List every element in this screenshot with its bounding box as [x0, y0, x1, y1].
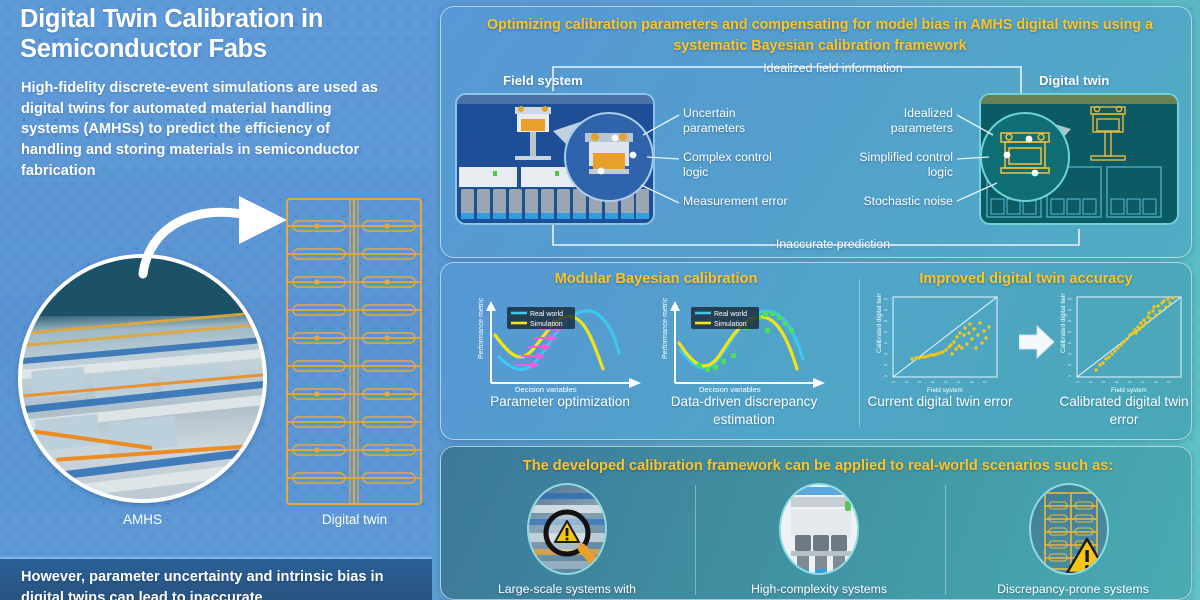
svg-text:.50: .50 [982, 380, 987, 384]
svg-text:Calibrated digital twin: Calibrated digital twin [1060, 293, 1067, 353]
svg-text:.25: .25 [1067, 374, 1072, 378]
panel-divider [945, 485, 946, 595]
chart-calibrated-twin-error: Calibrated digital twin [1055, 293, 1195, 395]
svg-text:.25: .25 [1101, 380, 1106, 384]
svg-text:.30: .30 [1114, 380, 1119, 384]
svg-text:.30: .30 [1067, 363, 1072, 367]
svg-text:.40: .40 [1067, 341, 1072, 345]
svg-text:.40: .40 [1140, 380, 1145, 384]
page-subtitle: High-fidelity discrete-event simulations… [21, 78, 393, 182]
magnifier-warning-icon [527, 483, 607, 575]
svg-text:.35: .35 [1067, 352, 1072, 356]
svg-text:.35: .35 [943, 380, 948, 384]
svg-text:Performance metric: Performance metric [478, 297, 485, 359]
svg-text:.45: .45 [969, 380, 974, 384]
svg-text:.25: .25 [917, 380, 922, 384]
svg-text:.30: .30 [883, 363, 888, 367]
fab-equipment-icon [779, 483, 859, 575]
right-column: Optimizing calibration parameters and co… [432, 0, 1200, 600]
svg-text:Simulation: Simulation [530, 321, 563, 328]
infographic-canvas: Digital Twin Calibration in Semiconducto… [0, 0, 1200, 600]
methods-results-panel: Modular Bayesian calibration Improved di… [440, 262, 1192, 440]
callout-measurement-error: Measurement error [683, 194, 793, 209]
svg-text:Performance metric: Performance metric [662, 297, 669, 359]
svg-text:.35: .35 [883, 352, 888, 356]
caption-discrepancy-estimation: Data-driven discrepancy estimation [639, 393, 849, 428]
panel-divider [695, 485, 696, 595]
application-label-1: Large-scale systems with few field obser… [471, 581, 663, 600]
flow-arrow-icon [135, 196, 295, 286]
svg-text:.20: .20 [1088, 380, 1093, 384]
svg-text:.50: .50 [1166, 380, 1171, 384]
improvement-arrow-icon [1019, 325, 1055, 359]
callout-stochastic-noise: Stochastic noise [845, 194, 953, 209]
svg-text:Real world: Real world [714, 311, 747, 318]
application-line1: Large-scale systems with [498, 582, 636, 596]
amhs-photo [18, 254, 267, 503]
svg-text:.60: .60 [883, 297, 888, 301]
svg-text:.50: .50 [1067, 319, 1072, 323]
callout-idealized-parameters: Idealized parameters [845, 106, 953, 137]
applications-panel: The developed calibration framework can … [440, 446, 1192, 600]
bottom-banner: However, parameter uncertainty and intri… [0, 557, 432, 600]
digital-twin-schematic [284, 196, 424, 507]
modular-bayesian-title: Modular Bayesian calibration [471, 271, 841, 287]
svg-text:.45: .45 [1153, 380, 1158, 384]
improved-accuracy-title: Improved digital twin accuracy [871, 271, 1181, 287]
caption-current-twin-error: Current digital twin error [865, 393, 1015, 411]
digital-twin-caption: Digital twin [272, 512, 437, 527]
svg-text:.45: .45 [1067, 330, 1072, 334]
svg-text:Decision variables: Decision variables [699, 385, 761, 393]
svg-text:.40: .40 [883, 341, 888, 345]
callout-complex-control-logic: Complex control logic [683, 150, 783, 181]
rack-warning-icon [1029, 483, 1109, 575]
svg-text:.40: .40 [956, 380, 961, 384]
panel-divider [859, 279, 860, 427]
svg-text:.20: .20 [904, 380, 909, 384]
svg-text:.50: .50 [883, 319, 888, 323]
svg-text:.25: .25 [883, 374, 888, 378]
application-line1: High-complexity systems [751, 582, 887, 596]
svg-text:Decision variables: Decision variables [515, 385, 577, 393]
callout-uncertain-parameters: Uncertain parameters [683, 106, 783, 137]
svg-text:.15: .15 [891, 380, 896, 384]
callout-leaders [441, 7, 1193, 259]
chart-current-twin-error: Calibrated digital twin [871, 293, 1011, 395]
application-label-3: Discrepancy-prone systems with unknown c… [973, 581, 1173, 600]
callout-simplified-control-logic: Simplified control logic [837, 150, 953, 181]
chart-parameter-optimization: Real world Simulation Performance metric… [469, 295, 649, 393]
applications-heading: The developed calibration framework can … [461, 458, 1175, 474]
svg-text:Simulation: Simulation [714, 321, 747, 328]
amhs-caption: AMHS [18, 512, 267, 527]
svg-text:.35: .35 [1127, 380, 1132, 384]
svg-text:Calibrated digital twin: Calibrated digital twin [876, 293, 883, 353]
page-title: Digital Twin Calibration in Semiconducto… [20, 4, 420, 64]
application-line1: Discrepancy-prone systems [997, 582, 1149, 596]
svg-text:.55: .55 [1067, 308, 1072, 312]
svg-text:Real world: Real world [530, 311, 563, 318]
application-label-2: High-complexity systems with oversimplif… [723, 581, 915, 600]
chart-discrepancy-estimation: Real world Simulation Performance metric… [653, 295, 833, 393]
svg-text:.30: .30 [930, 380, 935, 384]
svg-text:.55: .55 [883, 308, 888, 312]
caption-parameter-optimization: Parameter optimization [465, 393, 655, 411]
svg-text:.15: .15 [1075, 380, 1080, 384]
svg-text:.60: .60 [1067, 297, 1072, 301]
framework-panel: Optimizing calibration parameters and co… [440, 6, 1192, 258]
caption-calibrated-twin-error: Calibrated digital twin error [1049, 393, 1199, 428]
svg-text:.45: .45 [883, 330, 888, 334]
left-column: Digital Twin Calibration in Semiconducto… [0, 0, 432, 600]
